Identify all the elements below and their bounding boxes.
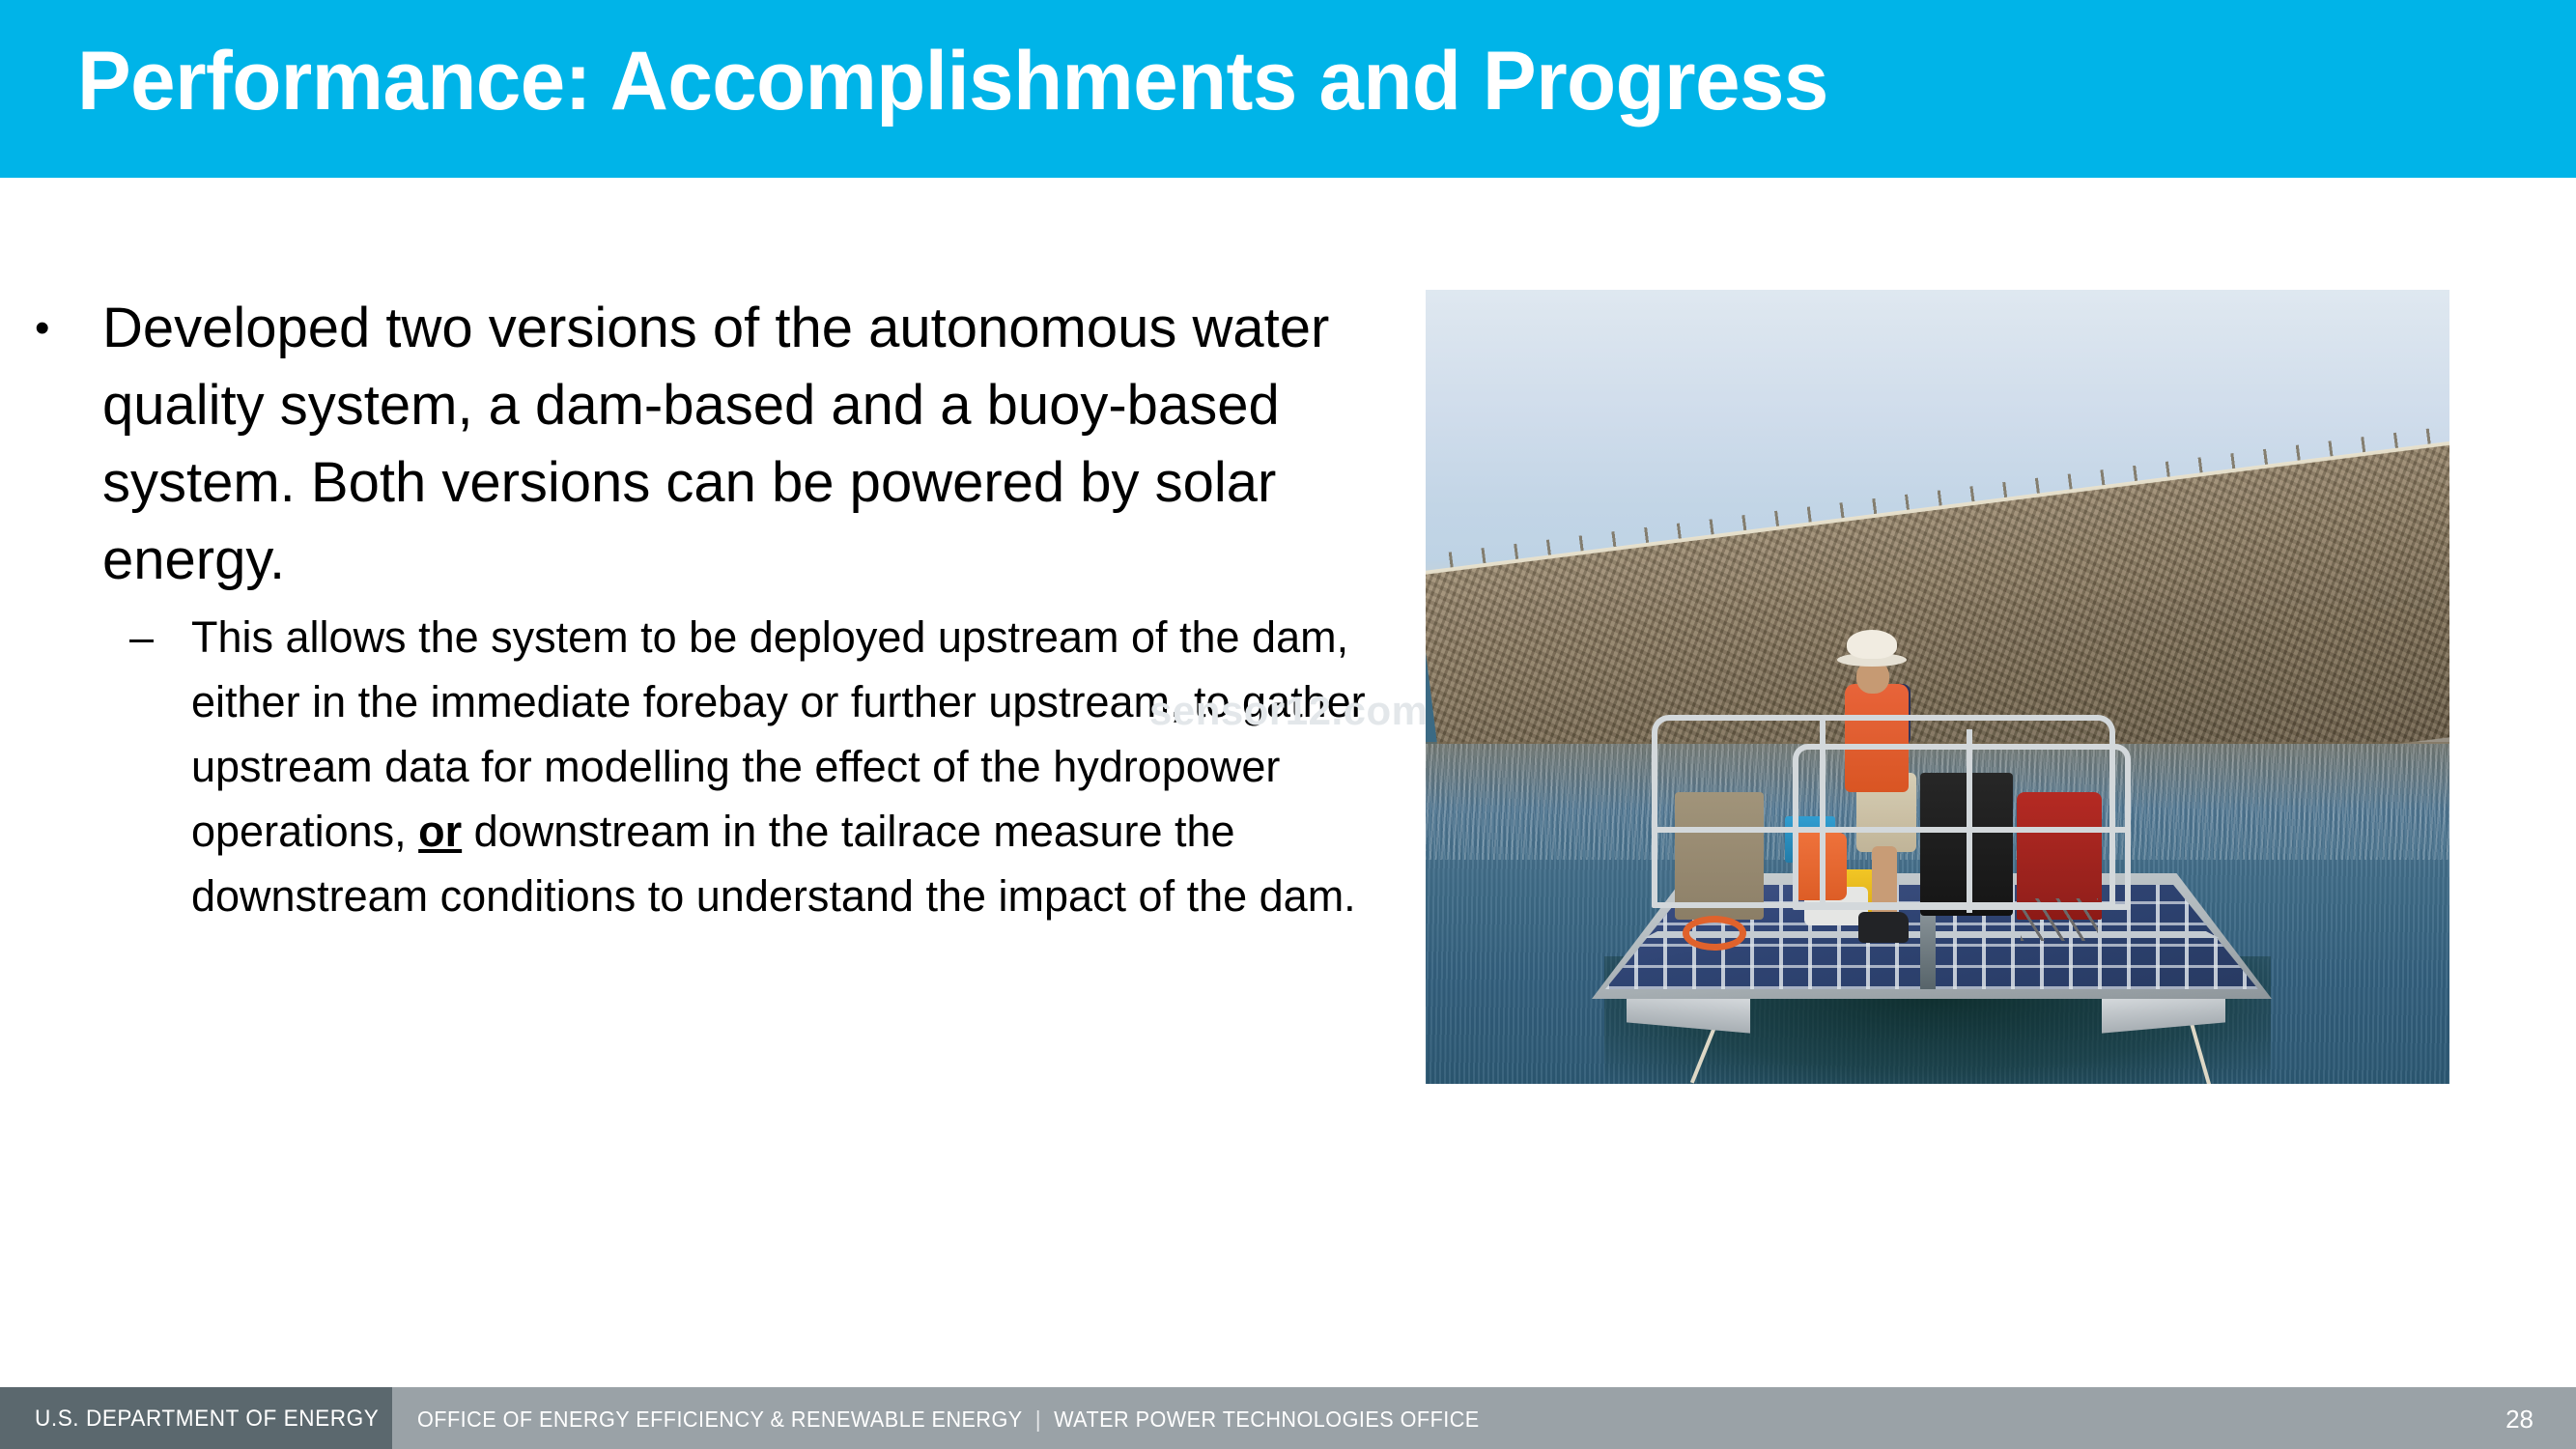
footer-separator: | xyxy=(1023,1406,1054,1432)
footer-program-text: WATER POWER TECHNOLOGIES OFFICE xyxy=(1054,1406,1480,1432)
footer-department-label: U.S. DEPARTMENT OF ENERGY xyxy=(35,1387,379,1449)
page-number: 28 xyxy=(2505,1387,2534,1449)
bullet-level2: – This allows the system to be deployed … xyxy=(0,605,1381,928)
footer: U.S. DEPARTMENT OF ENERGY OFFICE OF ENER… xyxy=(0,1387,2576,1449)
photo-equipment-frame-crossbar xyxy=(1654,827,2127,833)
bullet-level2-emphasis: or xyxy=(418,807,462,856)
photo-person1-hat xyxy=(1847,630,1897,659)
bullet-dash-icon: – xyxy=(129,605,154,669)
page-title: Performance: Accomplishments and Progres… xyxy=(77,27,1828,135)
photo-equipment-frame-post-2 xyxy=(1967,729,1972,913)
slide: Performance: Accomplishments and Progres… xyxy=(0,0,2576,1449)
content-body: • Developed two versions of the autonomo… xyxy=(0,290,1381,1352)
photo-monitoring-raft xyxy=(1426,290,2449,1084)
title-bar: Performance: Accomplishments and Progres… xyxy=(0,0,2576,178)
photo-person1-boot xyxy=(1858,912,1909,943)
photo-equipment-frame-post-1 xyxy=(1820,715,1826,908)
photo-orange-cable-coil xyxy=(1683,916,1746,951)
bullet-level1-text: Developed two versions of the autonomous… xyxy=(102,297,1329,591)
footer-office-text: OFFICE OF ENERGY EFFICIENCY & RENEWABLE … xyxy=(417,1406,1023,1432)
footer-office-label: OFFICE OF ENERGY EFFICIENCY & RENEWABLE … xyxy=(417,1387,1480,1449)
bullet-level1: • Developed two versions of the autonomo… xyxy=(0,290,1352,599)
bullet-dot-icon: • xyxy=(35,290,49,367)
